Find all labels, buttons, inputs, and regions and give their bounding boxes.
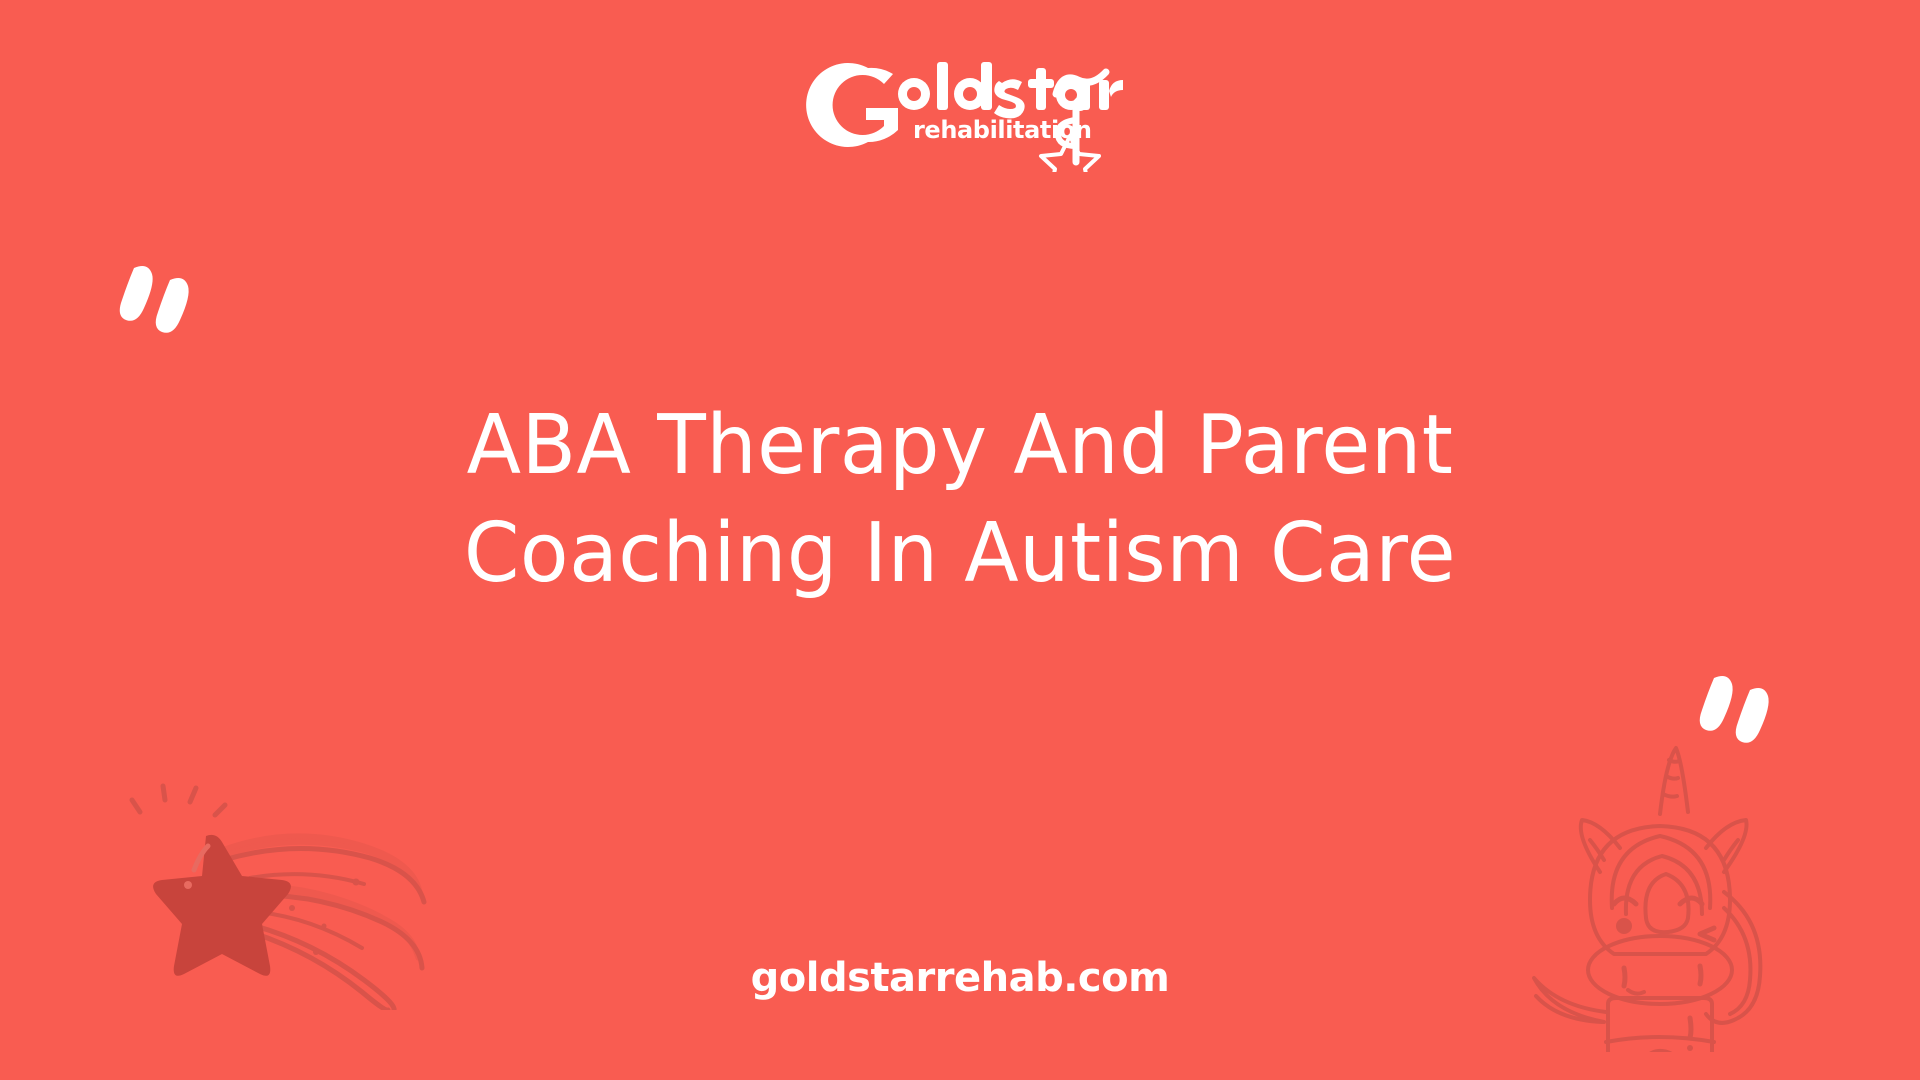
headline-line-1: ABA Therapy And Parent (320, 392, 1600, 500)
quote-open-icon (108, 262, 198, 342)
footer-website-url[interactable]: goldstarrehab.com (0, 955, 1920, 1001)
logo-g-letter (806, 63, 898, 147)
brand-logo-svg: rehabilitation (780, 42, 1140, 172)
unicorn-icon (1528, 722, 1828, 1052)
promo-card: rehabilitation AB (0, 0, 1920, 1080)
logo-wordmark (898, 62, 1123, 118)
headline-line-2: Coaching In Autism Care (320, 500, 1600, 608)
headline: ABA Therapy And Parent Coaching In Autis… (300, 392, 1620, 608)
brand-logo[interactable]: rehabilitation (0, 42, 1920, 172)
